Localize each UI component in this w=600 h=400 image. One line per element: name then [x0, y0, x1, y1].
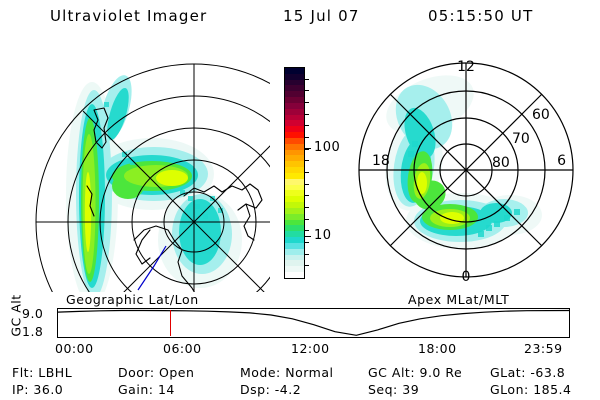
status-field-value: 9.0 Re	[420, 365, 463, 380]
colorbar-minor-tick	[304, 102, 309, 103]
geographic-polar-panel[interactable]	[32, 44, 270, 292]
status-field-value: -4.2	[275, 382, 301, 397]
orbit-plot-box[interactable]	[57, 308, 570, 338]
status-field-value: 39	[402, 382, 419, 397]
svg-text:12: 12	[457, 59, 475, 75]
geo-panel-caption: Geographic Lat/Lon	[66, 292, 199, 307]
status-field-label: GC Alt:	[368, 365, 420, 380]
header-bar: Ultraviolet Imager 15 Jul 07 05:15:50 UT	[0, 7, 600, 31]
observation-date: 15 Jul 07	[283, 7, 360, 25]
status-field-label: Dsp:	[240, 382, 275, 397]
colorbar-band	[285, 272, 304, 278]
status-field: Flt: LBHL	[12, 365, 72, 380]
geographic-plot-svg	[32, 44, 270, 292]
status-field: Dsp: -4.2	[240, 382, 301, 397]
colorbar-minor-tick	[304, 254, 309, 255]
status-field: IP: 36.0	[12, 382, 63, 397]
colorbar-minor-tick	[304, 79, 309, 80]
instrument-title: Ultraviolet Imager	[50, 7, 207, 25]
colorbar-minor-tick	[304, 125, 309, 126]
orbit-time-tick-label: 00:00	[55, 341, 94, 356]
status-field: Gain: 14	[118, 382, 175, 397]
orbit-time-tick-label: 06:00	[163, 341, 202, 356]
colorbar-minor-tick	[304, 172, 309, 173]
status-field-value: 14	[158, 382, 175, 397]
colorbar-minor-tick	[304, 207, 309, 208]
status-field-label: Door:	[118, 365, 159, 380]
terminator-line	[138, 246, 166, 290]
colorbar-major-tick	[304, 148, 311, 149]
colorbar-minor-tick	[304, 184, 309, 185]
status-field: GLat: -63.8	[490, 365, 565, 380]
status-field-value: 185.4	[533, 382, 571, 397]
colorbar-major-tick	[304, 236, 311, 237]
status-field: GC Alt: 9.0 Re	[368, 365, 462, 380]
mlt-spokes	[359, 63, 573, 277]
uvi-display-root: Ultraviolet Imager 15 Jul 07 05:15:50 UT	[0, 0, 600, 400]
svg-text:60: 60	[532, 107, 550, 123]
colorbar-minor-tick	[304, 242, 309, 243]
colorbar-minor-tick	[304, 160, 309, 161]
svg-text:70: 70	[512, 131, 530, 147]
status-field-label: IP:	[12, 382, 33, 397]
orbit-altitude-strip[interactable]: Geographic Lat/Lon Apex MLat/MLT GC Alt …	[0, 292, 600, 358]
status-field-label: Flt:	[12, 365, 38, 380]
observation-time: 05:15:50 UT	[428, 7, 533, 25]
colorbar-tick-label: 100	[314, 141, 340, 154]
status-field: Mode: Normal	[240, 365, 333, 380]
status-field-value: Open	[159, 365, 194, 380]
status-field-value: LBHL	[38, 365, 72, 380]
colorbar-minor-tick	[304, 137, 309, 138]
svg-text:0: 0	[462, 269, 471, 285]
orbit-time-tick-label: 18:00	[418, 341, 457, 356]
status-field-label: GLat:	[490, 365, 530, 380]
colorbar-minor-tick	[304, 195, 309, 196]
svg-text:18: 18	[372, 153, 390, 169]
status-field-label: GLon:	[490, 382, 533, 397]
orbit-time-cursor[interactable]	[170, 310, 172, 336]
svg-text:80: 80	[492, 155, 510, 171]
apex-mlt-panel[interactable]: 12 18 6 0 60 70 80	[352, 55, 582, 287]
colorbar-group: photon cm-2s-1 10010	[266, 60, 352, 292]
gc-alt-tick-low: 1.8	[22, 324, 43, 339]
status-bar: Flt: LBHLDoor: OpenMode: NormalGC Alt: 9…	[0, 365, 600, 399]
colorbar-minor-tick	[304, 114, 309, 115]
colorbar-tick-label: 10	[314, 229, 332, 242]
colorbar-minor-tick	[304, 219, 309, 220]
mlt-dial-svg: 12 18 6 0 60 70 80	[352, 55, 582, 287]
status-field-value: -63.8	[530, 365, 565, 380]
mlt-panel-caption: Apex MLat/MLT	[408, 292, 509, 307]
status-field-label: Mode:	[240, 365, 285, 380]
orbit-time-tick-label: 23:59	[524, 341, 563, 356]
svg-text:6: 6	[557, 153, 566, 169]
colorbar-gradient[interactable]	[284, 67, 305, 279]
colorbar-minor-tick	[304, 265, 309, 266]
orbit-time-tick-label: 12:00	[291, 341, 330, 356]
colorbar-minor-tick	[304, 90, 309, 91]
status-field: GLon: 185.4	[490, 382, 571, 397]
status-field: Seq: 39	[368, 382, 419, 397]
gc-alt-tick-high: 9.0	[22, 306, 43, 321]
status-field: Door: Open	[118, 365, 194, 380]
orbit-trace-svg	[58, 309, 569, 337]
status-field-label: Gain:	[118, 382, 158, 397]
status-field-value: 36.0	[33, 382, 63, 397]
status-field-value: Normal	[285, 365, 333, 380]
colorbar-minor-tick	[304, 230, 309, 231]
status-field-label: Seq:	[368, 382, 402, 397]
